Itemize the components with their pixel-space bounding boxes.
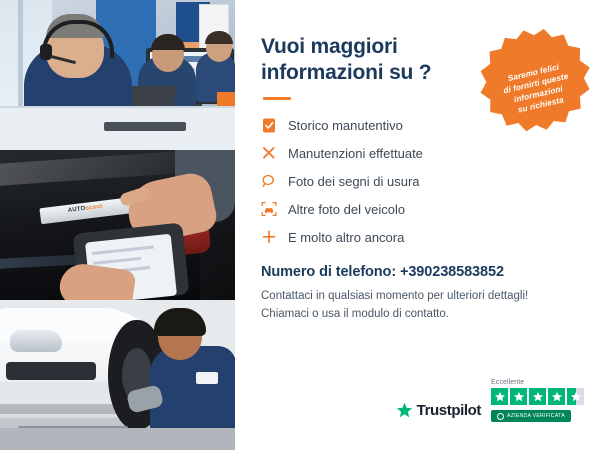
contact-instructions-line2: Chiamaci o usa il modulo di contatto. xyxy=(261,308,449,320)
trustpilot-rating[interactable]: Trustpilot Eccellente xyxy=(396,379,584,422)
list-item-label: E molto altro ancora xyxy=(288,230,404,245)
list-item: E molto altro ancora xyxy=(261,224,578,250)
trustpilot-rating-label: Eccellente xyxy=(491,379,524,386)
title-divider xyxy=(263,97,291,100)
callout-badge: Saremo felici di fornirti queste informa… xyxy=(469,17,600,151)
star-rating xyxy=(491,388,584,405)
page-title-line2: informazioni su ? xyxy=(261,61,431,84)
plus-icon xyxy=(261,229,277,245)
promo-banner: AUTOscout xyxy=(0,0,600,450)
car-scan-icon xyxy=(261,201,277,217)
star-partial xyxy=(567,388,584,405)
check-circle-icon xyxy=(497,413,504,420)
magnifier-icon xyxy=(261,173,277,189)
wrench-cross-icon xyxy=(261,145,277,161)
trustpilot-score-block: Eccellente xyxy=(491,379,584,422)
vehicle-inspection-tablet-photo: AUTOscout xyxy=(0,150,235,300)
list-item: Manutenzioni effettuate xyxy=(261,140,578,166)
content-panel: Vuoi maggiori informazioni su ? Storico … xyxy=(235,0,600,450)
trustpilot-star-icon xyxy=(396,402,413,419)
star-filled xyxy=(510,388,527,405)
list-item-label: Foto dei segni di usura xyxy=(288,174,420,189)
contact-instructions-line1: Contattaci in qualsiasi momento per ulte… xyxy=(261,290,528,302)
photo-column: AUTOscout xyxy=(0,0,235,450)
verified-company-label: AZIENDA VERIFICATA xyxy=(507,413,565,419)
page-title: Vuoi maggiori informazioni su ? xyxy=(261,34,466,85)
star-filled xyxy=(529,388,546,405)
trustpilot-logo: Trustpilot xyxy=(396,402,481,422)
page-title-line1: Vuoi maggiori xyxy=(261,35,398,58)
list-item: Altre foto del veicolo xyxy=(261,196,578,222)
list-item: Foto dei segni di usura xyxy=(261,168,578,194)
verified-company-badge: AZIENDA VERIFICATA xyxy=(491,410,571,422)
list-item-label: Manutenzioni effettuate xyxy=(288,146,423,161)
star-filled xyxy=(548,388,565,405)
phone-number[interactable]: Numero di telefono: +390238583852 xyxy=(261,264,578,280)
star-filled xyxy=(491,388,508,405)
mechanic-wheel-check-photo xyxy=(0,300,235,450)
contact-instructions: Contattaci in qualsiasi momento per ulte… xyxy=(261,288,578,324)
call-center-agents-photo xyxy=(0,0,235,150)
checkbox-checked-icon xyxy=(261,117,277,133)
list-item-label: Altre foto del veicolo xyxy=(288,202,405,217)
trustpilot-wordmark: Trustpilot xyxy=(417,402,481,419)
list-item-label: Storico manutentivo xyxy=(288,118,403,133)
